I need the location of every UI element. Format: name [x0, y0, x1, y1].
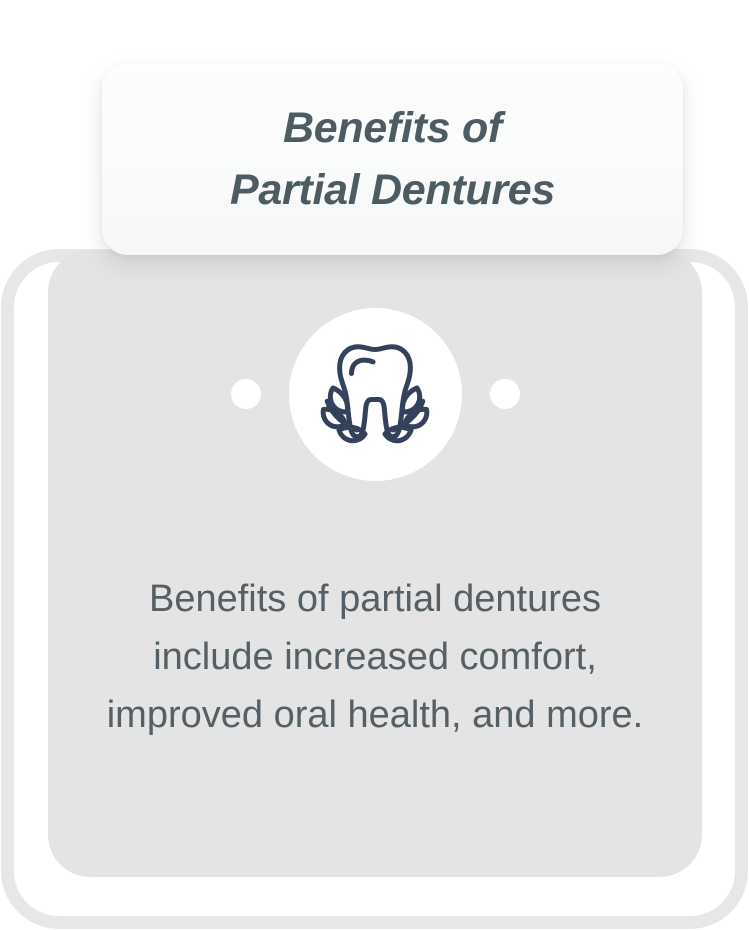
tooth-laurel-icon — [313, 338, 437, 450]
icon-badge — [289, 308, 462, 481]
icon-row — [48, 307, 702, 481]
card-body-text: Benefits of partial dentures include inc… — [84, 570, 666, 744]
decorative-dot-left — [231, 379, 261, 409]
card-title-line-1: Benefits of — [283, 97, 502, 159]
card-title-line-2: Partial Dentures — [230, 159, 555, 221]
title-card: Benefits of Partial Dentures — [102, 63, 683, 255]
decorative-dot-right — [490, 379, 520, 409]
info-card-stage: Benefits of Partial Dentures — [0, 0, 749, 930]
